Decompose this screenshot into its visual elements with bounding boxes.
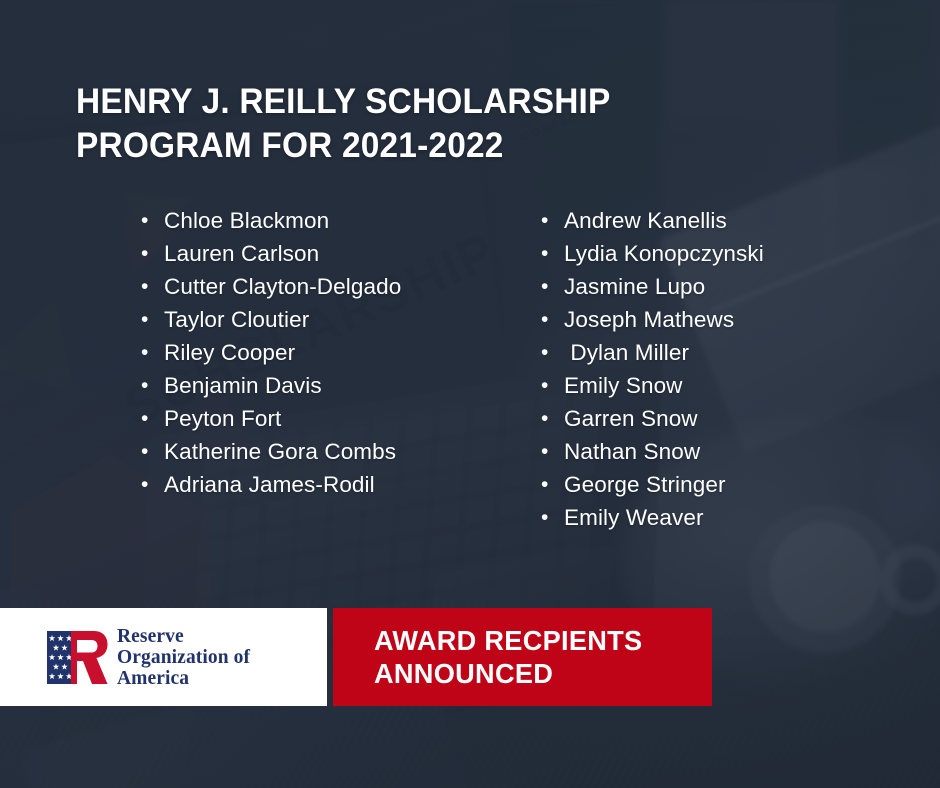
recipient-name: Chloe Blackmon xyxy=(164,205,329,236)
recipient-list-item: Lydia Konopczynski xyxy=(541,238,940,271)
recipient-name: Lydia Konopczynski xyxy=(564,238,764,269)
recipient-list-item: Andrew Kanellis xyxy=(541,205,940,238)
recipient-name: Emily Weaver xyxy=(564,502,704,533)
bullet-icon xyxy=(541,502,564,533)
recipient-list-item: Peyton Fort xyxy=(141,403,541,436)
recipient-name: Lauren Carlson xyxy=(164,238,319,269)
recipient-name: Nathan Snow xyxy=(564,436,700,467)
bullet-icon xyxy=(541,469,564,500)
bullet-icon xyxy=(541,238,564,269)
bullet-icon xyxy=(541,271,564,302)
bullet-icon xyxy=(141,436,164,467)
recipient-name: Riley Cooper xyxy=(164,337,295,368)
bullet-icon xyxy=(141,370,164,401)
recipient-name: Andrew Kanellis xyxy=(564,205,727,236)
recipient-name: Peyton Fort xyxy=(164,403,281,434)
scholarship-announcement-poster: SCHOLARSHIP ABOUT US CONTACT Henry J. Re… xyxy=(0,0,940,788)
recipient-list-item: Joseph Mathews xyxy=(541,304,940,337)
recipient-name: George Stringer xyxy=(564,469,726,500)
bullet-icon xyxy=(141,205,164,236)
recipient-list-item: Emily Weaver xyxy=(541,502,940,535)
recipient-list-item: Benjamin Davis xyxy=(141,370,541,403)
recipient-name: Adriana James-Rodil xyxy=(164,469,375,500)
bullet-icon xyxy=(541,205,564,236)
recipient-list-item: Jasmine Lupo xyxy=(541,271,940,304)
recipient-list-item: Emily Snow xyxy=(541,370,940,403)
recipient-list-item: Katherine Gora Combs xyxy=(141,436,541,469)
bullet-icon xyxy=(141,469,164,500)
recipient-name: Taylor Cloutier xyxy=(164,304,309,335)
recipient-list-item: Taylor Cloutier xyxy=(141,304,541,337)
recipient-name: Garren Snow xyxy=(564,403,698,434)
organization-name: Reserve Organization of America xyxy=(117,626,250,689)
page-title: Henry J. Reilly Scholarship Program for … xyxy=(76,80,745,168)
bullet-icon xyxy=(541,304,564,335)
recipients-left-column: Chloe BlackmonLauren CarlsonCutter Clayt… xyxy=(141,205,541,502)
logo-lockup: Reserve Organization of America xyxy=(46,626,250,689)
organization-logo-box: Reserve Organization of America xyxy=(0,608,327,706)
recipient-name: Cutter Clayton-Delgado xyxy=(164,271,401,302)
recipient-list-item: Garren Snow xyxy=(541,403,940,436)
recipient-name: Dylan Miller xyxy=(564,337,689,368)
recipients-right-column: Andrew KanellisLydia KonopczynskiJasmine… xyxy=(541,205,940,535)
recipient-name: Joseph Mathews xyxy=(564,304,734,335)
bullet-icon xyxy=(141,403,164,434)
award-announcement-banner: Award Recpients Announced xyxy=(333,608,712,706)
roa-logo-mark-icon xyxy=(46,629,108,686)
bullet-icon xyxy=(541,436,564,467)
bullet-icon xyxy=(541,337,564,368)
recipient-list-item: Lauren Carlson xyxy=(141,238,541,271)
recipient-list-item: Cutter Clayton-Delgado xyxy=(141,271,541,304)
bullet-icon xyxy=(541,370,564,401)
bullet-icon xyxy=(141,238,164,269)
recipient-name: Emily Snow xyxy=(564,370,683,401)
recipient-name: Jasmine Lupo xyxy=(564,271,705,302)
recipient-list-item: Nathan Snow xyxy=(541,436,940,469)
poster-content: Henry J. Reilly Scholarship Program for … xyxy=(0,0,940,788)
bullet-icon xyxy=(141,337,164,368)
bullet-icon xyxy=(141,304,164,335)
recipient-list-item: Adriana James-Rodil xyxy=(141,469,541,502)
recipient-list-item: Riley Cooper xyxy=(141,337,541,370)
award-banner-text: Award Recpients Announced xyxy=(374,624,642,690)
recipient-name: Katherine Gora Combs xyxy=(164,436,396,467)
recipient-list-item: George Stringer xyxy=(541,469,940,502)
bullet-icon xyxy=(541,403,564,434)
recipient-name: Benjamin Davis xyxy=(164,370,322,401)
bullet-icon xyxy=(141,271,164,302)
recipient-list-item: Chloe Blackmon xyxy=(141,205,541,238)
recipient-list-item: Dylan Miller xyxy=(541,337,940,370)
